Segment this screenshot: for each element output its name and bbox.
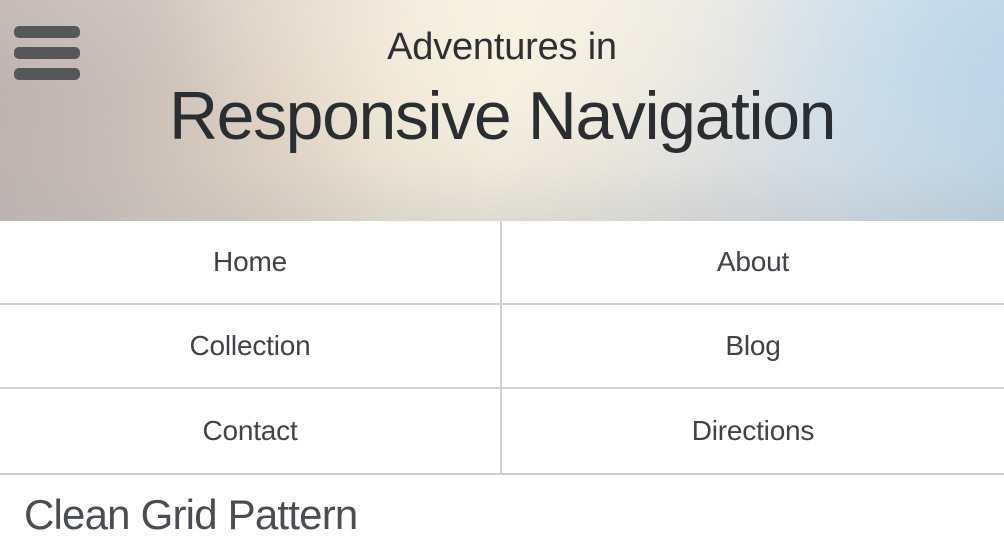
- nav-item-label: Collection: [190, 330, 311, 362]
- nav-item-blog[interactable]: Blog: [502, 305, 1004, 389]
- nav-item-label: Home: [213, 246, 287, 278]
- hamburger-bar-top: [14, 26, 80, 38]
- nav-item-contact[interactable]: Contact: [0, 389, 502, 473]
- nav-item-about[interactable]: About: [502, 221, 1004, 305]
- nav-item-directions[interactable]: Directions: [502, 389, 1004, 473]
- page-title: Responsive Navigation: [0, 82, 1004, 150]
- hamburger-bar-bottom: [14, 68, 80, 80]
- nav-item-label: About: [717, 246, 789, 278]
- hamburger-bar-middle: [14, 47, 80, 59]
- page-root: Adventures in Responsive Navigation Home…: [0, 0, 1004, 554]
- nav-item-label: Directions: [692, 415, 814, 447]
- primary-navigation-grid: Home About Collection Blog Contact Direc…: [0, 221, 1004, 475]
- main-content: Clean Grid Pattern: [0, 475, 1004, 537]
- header-title-block: Adventures in Responsive Navigation: [0, 0, 1004, 150]
- content-heading: Clean Grid Pattern: [24, 493, 980, 537]
- nav-item-label: Contact: [202, 415, 297, 447]
- hamburger-menu-icon[interactable]: [14, 26, 80, 80]
- site-header: Adventures in Responsive Navigation: [0, 0, 1004, 221]
- nav-item-home[interactable]: Home: [0, 221, 502, 305]
- header-kicker: Adventures in: [0, 28, 1004, 66]
- nav-item-collection[interactable]: Collection: [0, 305, 502, 389]
- nav-item-label: Blog: [725, 330, 780, 362]
